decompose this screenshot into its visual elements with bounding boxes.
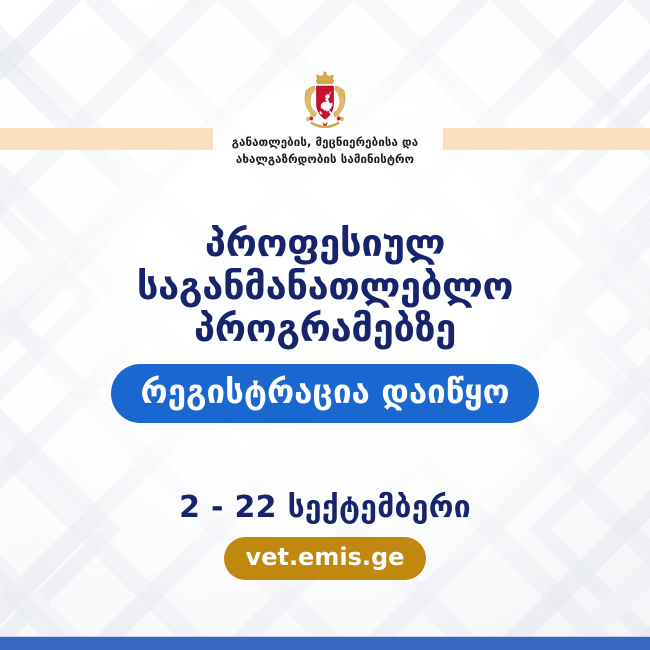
url-row: vet.emis.ge [0, 537, 650, 580]
page-title: პროფესიულ საგანმანათლებლო პროგრამებზე [0, 222, 650, 350]
header-block: განათლების, მეცნიერებისა და ახალგაზრდობი… [0, 70, 650, 167]
bottom-blue-band [0, 637, 650, 650]
georgia-coat-of-arms-icon [298, 70, 352, 128]
poster-canvas: განათლების, მეცნიერებისა და ახალგაზრდობი… [0, 0, 650, 650]
ministry-name-label: განათლების, მეცნიერებისა და ახალგაზრდობი… [232, 134, 418, 167]
date-range-label: 2 - 22 სექტემბერი [0, 490, 650, 525]
cta-row: რეგისტრაცია დაიწყო [0, 364, 650, 423]
website-url-badge[interactable]: vet.emis.ge [224, 537, 427, 580]
registration-open-badge[interactable]: რეგისტრაცია დაიწყო [111, 364, 540, 423]
